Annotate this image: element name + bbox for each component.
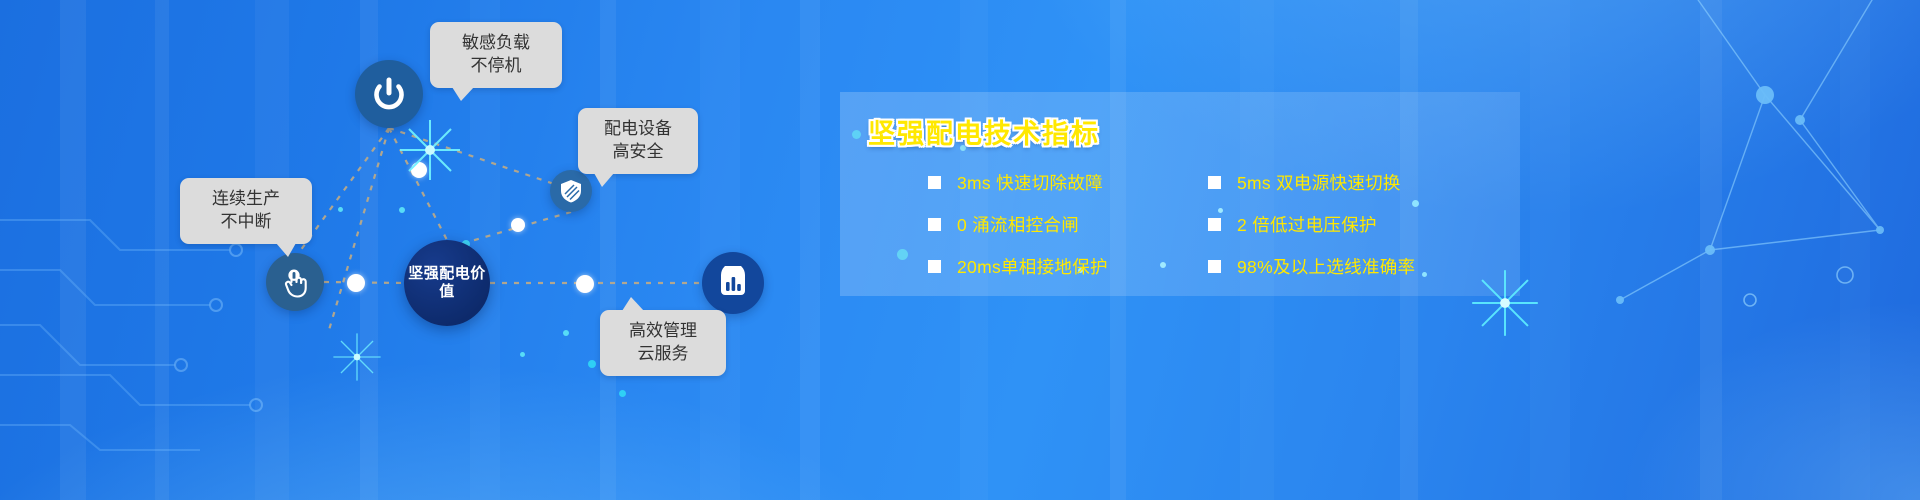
callout-line-2: 不中断 (194, 211, 298, 234)
callout-continuous-production[interactable]: 连续生产 不中断 (180, 178, 312, 244)
tech-indicator-list: 3ms 快速切除故障 5ms 双电源快速切换 0 涌流相控合闸 2 倍低过电压保… (928, 170, 1510, 279)
list-item[interactable]: 20ms单相接地保护 (928, 254, 1208, 279)
callout-tail (452, 87, 474, 101)
shield-icon (558, 178, 584, 204)
power-icon (369, 74, 409, 114)
center-node-label: 坚强配电价值 (404, 265, 490, 300)
glow-bottom-right (1620, 300, 1920, 500)
callout-equipment-safety[interactable]: 配电设备 高安全 (578, 108, 698, 174)
node-hand-pointer[interactable] (266, 253, 324, 311)
node-shield[interactable] (550, 170, 592, 212)
bullet-square-icon (1208, 260, 1221, 273)
list-item[interactable]: 98%及以上选线准确率 (1208, 254, 1510, 279)
callout-tail (276, 243, 296, 257)
list-item-label: 0 涌流相控合闸 (957, 212, 1079, 237)
node-bar-chart[interactable] (702, 252, 764, 314)
connector-dot (576, 275, 594, 293)
callout-line-1: 连续生产 (194, 188, 298, 211)
list-item-label: 20ms单相接地保护 (957, 254, 1108, 279)
center-node[interactable]: 坚强配电价值 (404, 240, 490, 326)
value-network-diagram: 坚强配电价值 敏感负载 不停机 配电设备 高安全 连续生产 不中断 高效管理 云… (0, 0, 860, 500)
list-item-label: 98%及以上选线准确率 (1237, 254, 1415, 279)
bullet-square-icon (928, 218, 941, 231)
callout-line-2: 云服务 (614, 343, 712, 366)
list-item[interactable]: 5ms 双电源快速切换 (1208, 170, 1510, 195)
hand-pointer-icon (278, 265, 312, 299)
callout-sensitive-load[interactable]: 敏感负载 不停机 (430, 22, 562, 88)
list-item[interactable]: 0 涌流相控合闸 (928, 212, 1208, 237)
connector-dot (511, 218, 525, 232)
callout-line-1: 配电设备 (592, 118, 684, 141)
callout-tail (594, 173, 614, 187)
callout-cloud-service[interactable]: 高效管理 云服务 (600, 310, 726, 376)
bullet-square-icon (928, 176, 941, 189)
bullet-square-icon (928, 260, 941, 273)
connector-dot (411, 162, 427, 178)
bar-chart-icon (716, 266, 750, 300)
callout-line-2: 不停机 (444, 55, 548, 78)
list-item[interactable]: 3ms 快速切除故障 (928, 170, 1208, 195)
callout-line-2: 高安全 (592, 141, 684, 164)
callout-line-1: 高效管理 (614, 320, 712, 343)
banner-stage: 坚强配电价值 敏感负载 不停机 配电设备 高安全 连续生产 不中断 高效管理 云… (0, 0, 1920, 500)
bullet-square-icon (1208, 218, 1221, 231)
bullet-square-icon (1208, 176, 1221, 189)
list-item-label: 3ms 快速切除故障 (957, 170, 1103, 195)
callout-tail (622, 297, 644, 311)
constellation-decoration (1500, 0, 1920, 340)
node-power[interactable] (355, 60, 423, 128)
panel-title: 坚强配电技术指标 (868, 112, 1100, 151)
list-item-label: 5ms 双电源快速切换 (1237, 170, 1401, 195)
tech-indicator-panel: 坚强配电技术指标 3ms 快速切除故障 5ms 双电源快速切换 0 涌流相控合闸… (840, 92, 1520, 296)
connector-dot (347, 274, 365, 292)
list-item[interactable]: 2 倍低过电压保护 (1208, 212, 1510, 237)
list-item-label: 2 倍低过电压保护 (1237, 212, 1377, 237)
callout-line-1: 敏感负载 (444, 32, 548, 55)
